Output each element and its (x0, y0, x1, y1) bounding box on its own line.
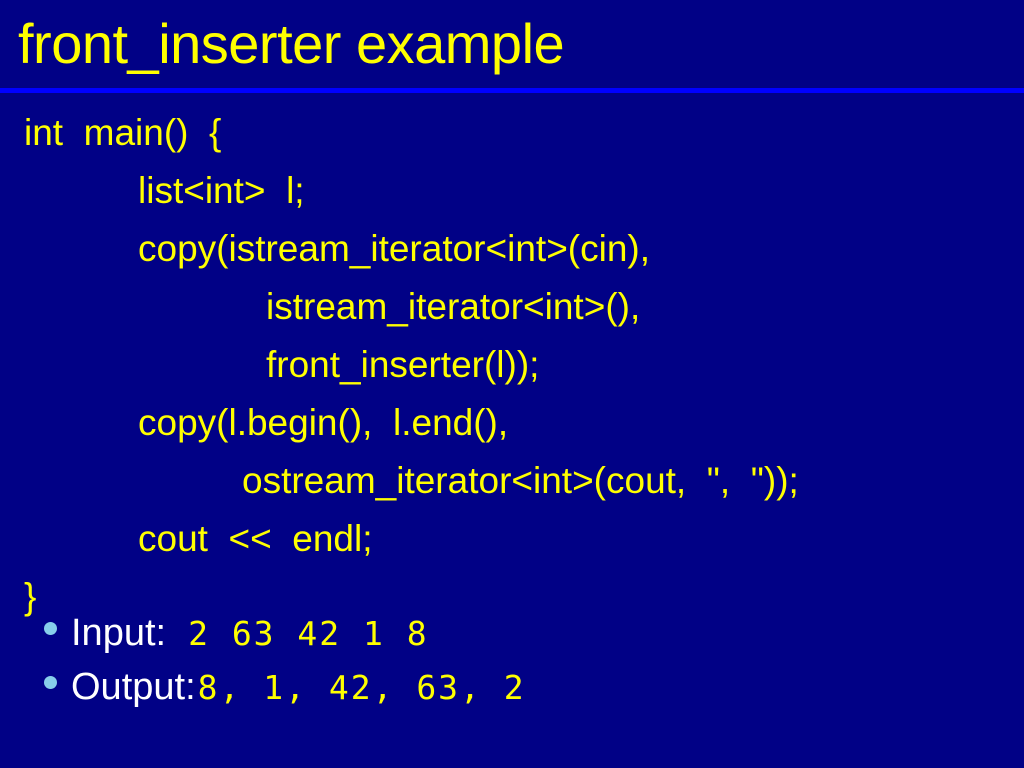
code-line: front_inserter(l)); (0, 336, 1024, 394)
code-line: int main() { (0, 104, 1024, 162)
bullet-dot-icon (44, 676, 57, 689)
slide: front_inserter example int main() { list… (0, 0, 1024, 768)
bullet-dot-icon (44, 622, 57, 635)
code-line: cout << endl; (0, 510, 1024, 568)
output-label: Output: (71, 660, 196, 714)
code-line: copy(istream_iterator<int>(cin), (0, 220, 1024, 278)
code-block: int main() { list<int> l; copy(istream_i… (0, 104, 1024, 626)
title-divider (0, 88, 1024, 93)
code-line: list<int> l; (0, 162, 1024, 220)
output-values: 8, 1, 42, 63, 2 (198, 661, 526, 715)
code-line: copy(l.begin(), l.end(), (0, 394, 1024, 452)
code-line: ostream_iterator<int>(cout, ", ")); (0, 452, 1024, 510)
code-line: istream_iterator<int>(), (0, 278, 1024, 336)
list-item: Input: 2 63 42 1 8 (0, 606, 1024, 660)
input-label: Input: (71, 606, 166, 660)
bullet-list: Input: 2 63 42 1 8 Output: 8, 1, 42, 63,… (0, 606, 1024, 714)
list-item: Output: 8, 1, 42, 63, 2 (0, 660, 1024, 714)
page-title: front_inserter example (18, 4, 564, 84)
input-values: 2 63 42 1 8 (188, 607, 429, 661)
